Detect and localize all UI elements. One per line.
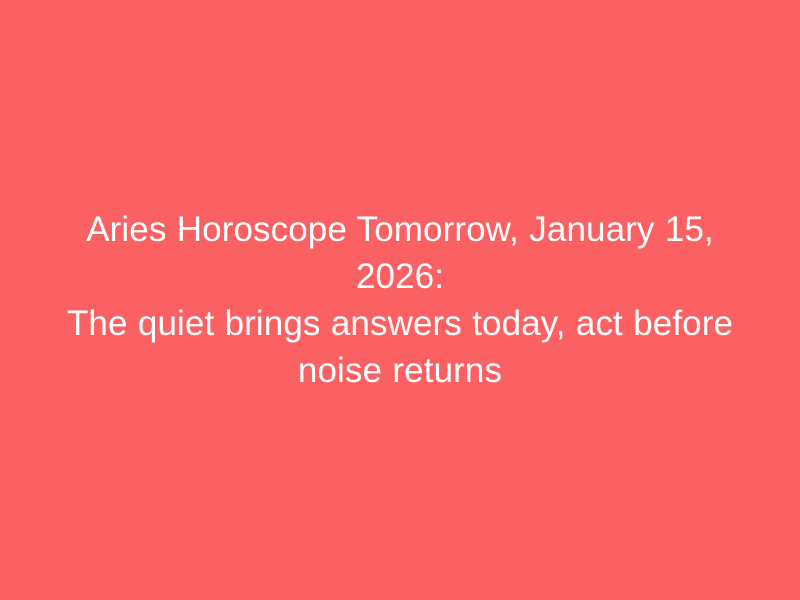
page-title: Aries Horoscope Tomorrow, January 15, 20… [60, 206, 740, 394]
headline-line-3: noise returns [60, 347, 740, 394]
headline-block: Aries Horoscope Tomorrow, January 15, 20… [40, 206, 760, 394]
headline-line-1: Aries Horoscope Tomorrow, January 15, 20… [60, 206, 740, 300]
headline-line-2: The quiet brings answers today, act befo… [60, 300, 740, 347]
horoscope-share-card: Aries Horoscope Tomorrow, January 15, 20… [0, 0, 800, 600]
